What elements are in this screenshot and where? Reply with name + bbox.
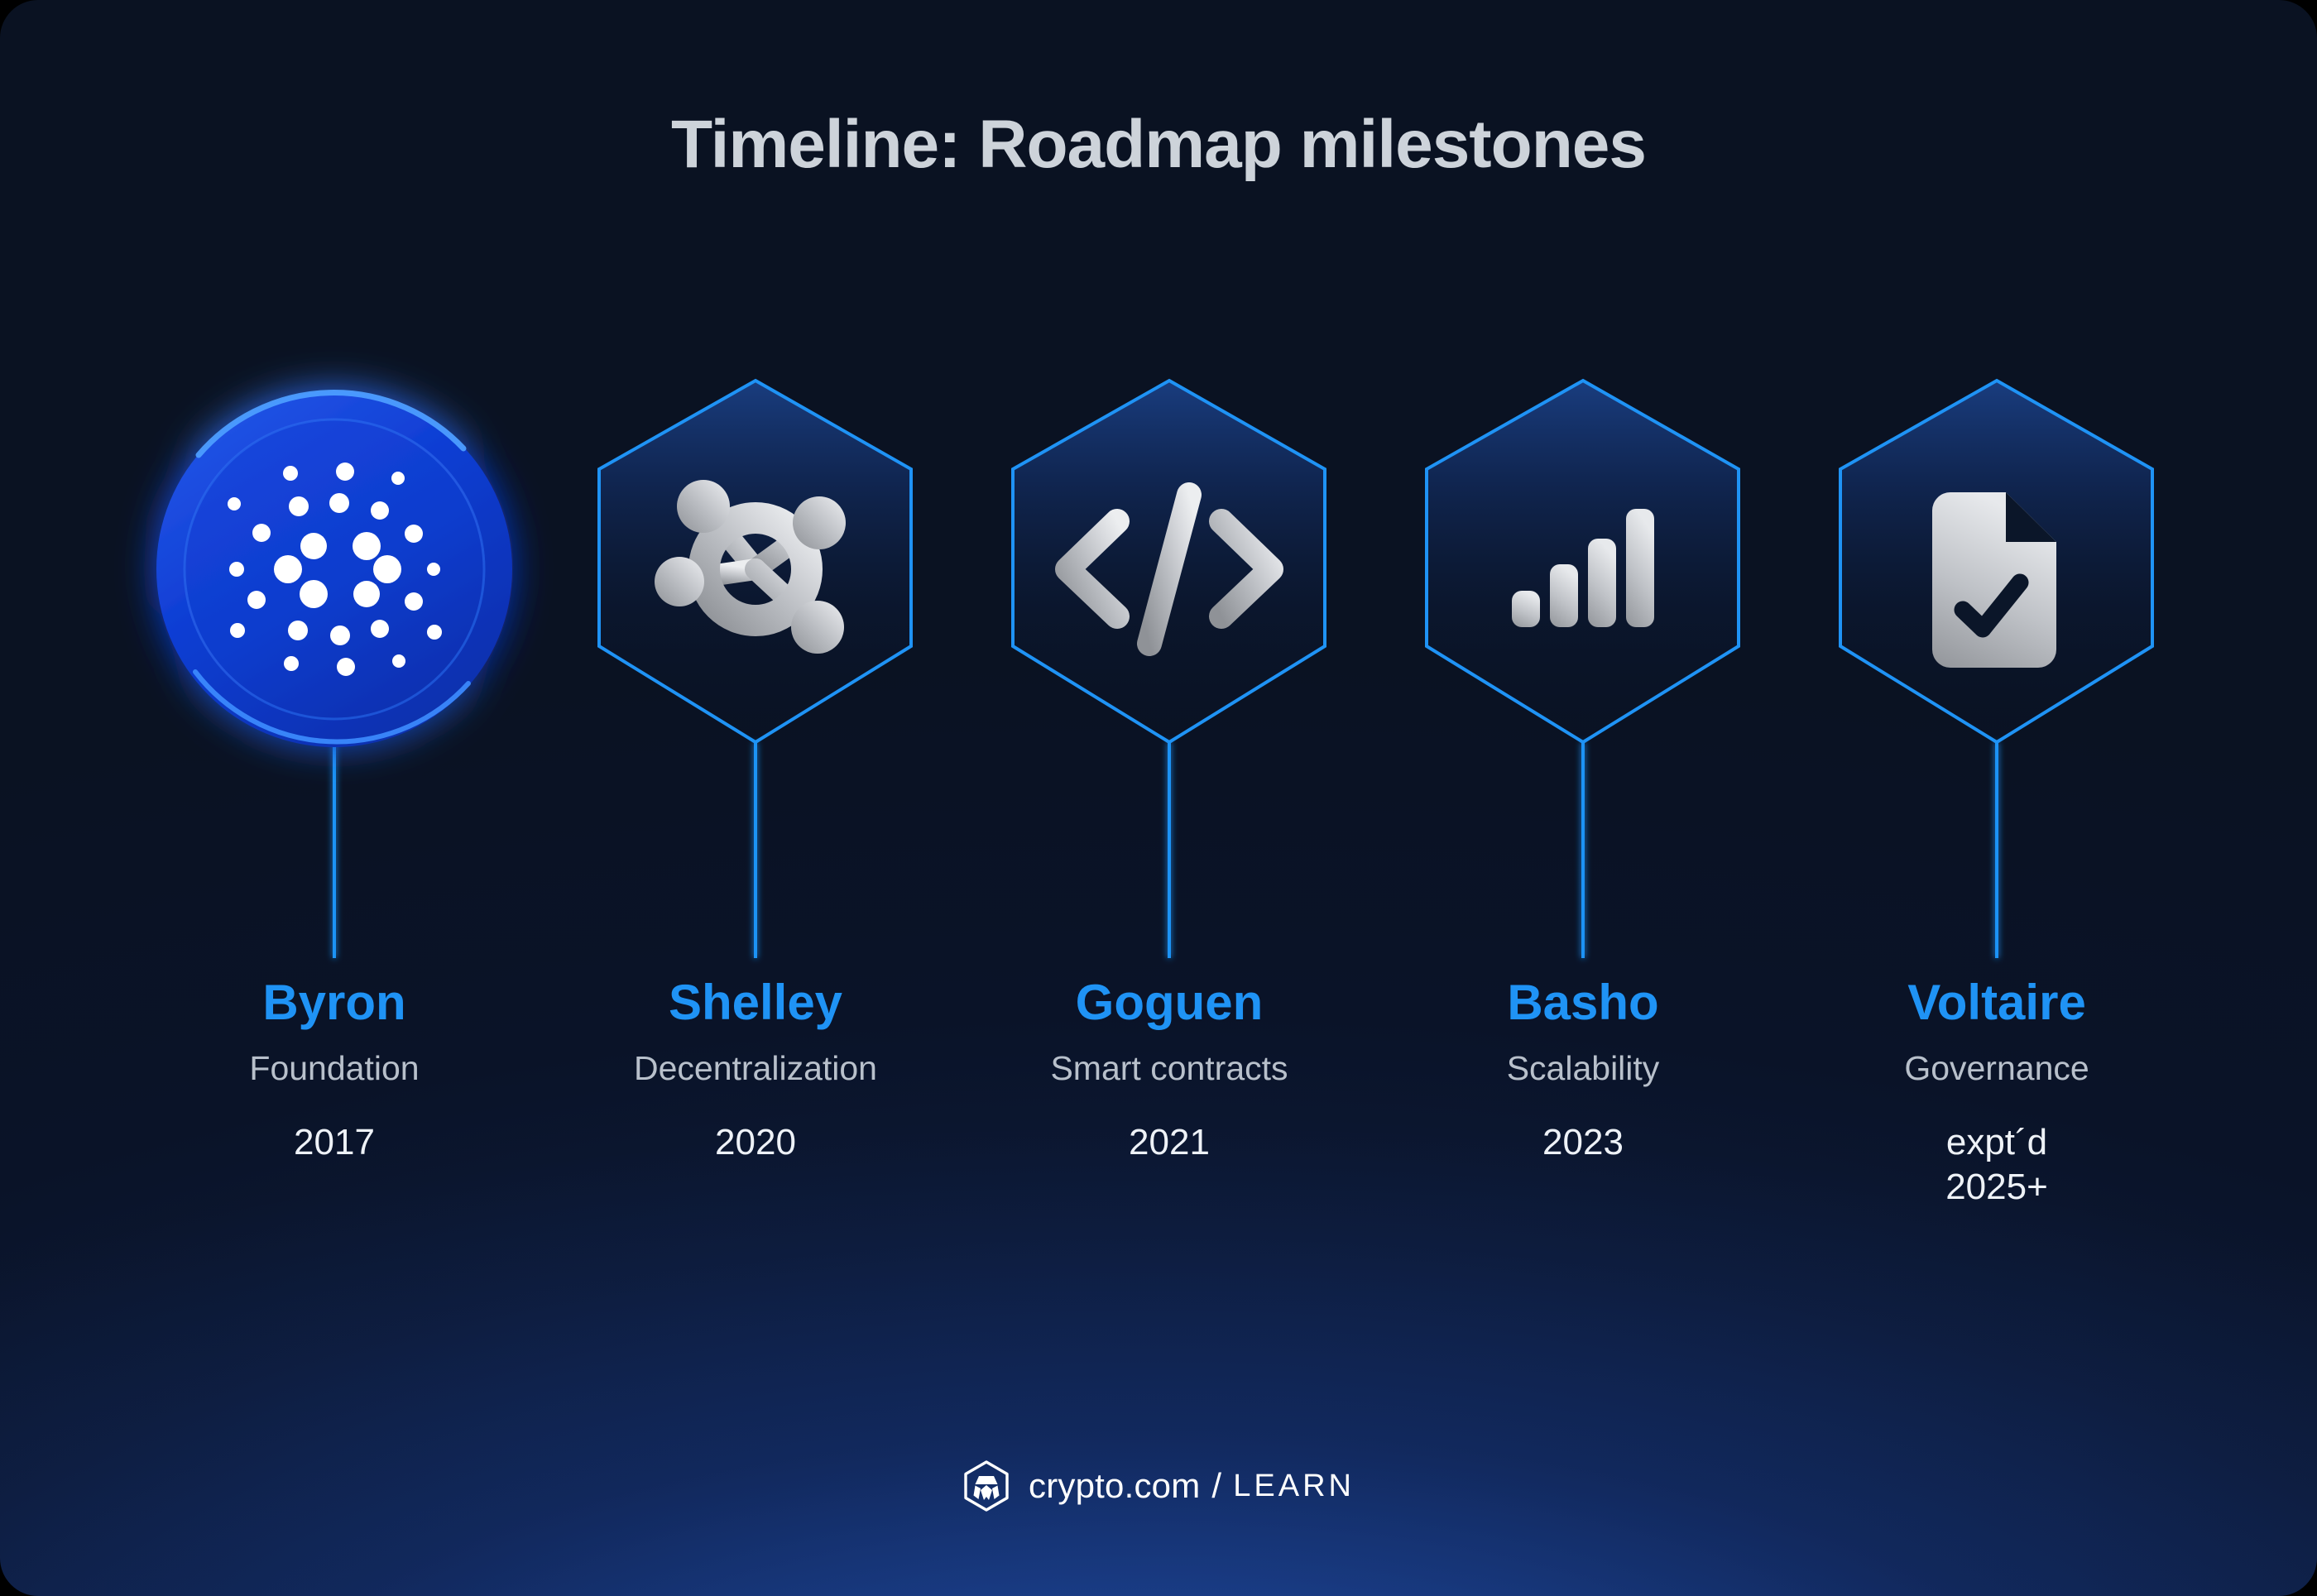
label-voltaire[interactable]: Voltaire Governance expt´d 2025+ — [1782, 976, 2212, 1209]
milestone-subtitle: Decentralization — [540, 1050, 971, 1087]
milestone-labels: Byron Foundation 2017 Shelley Decentrali… — [0, 976, 2317, 1274]
label-basho[interactable]: Basho Scalability 2023 — [1368, 976, 1798, 1165]
infographic-canvas: Timeline: Roadmap milestones — [0, 0, 2317, 1596]
label-shelley[interactable]: Shelley Decentralization 2020 — [540, 976, 971, 1165]
milestone-name: Byron — [119, 976, 549, 1028]
milestone-subtitle: Foundation — [119, 1050, 549, 1087]
node-shelley[interactable] — [599, 381, 911, 742]
label-goguen[interactable]: Goguen Smart contracts 2021 — [954, 976, 1384, 1165]
milestone-name: Basho — [1368, 976, 1798, 1028]
milestone-name: Voltaire — [1782, 976, 2212, 1028]
timeline-diagram — [0, 0, 2317, 1596]
brand-separator: / — [1211, 1466, 1221, 1506]
milestone-year: 2017 — [119, 1120, 549, 1165]
brand-section: LEARN — [1233, 1469, 1355, 1504]
page-title: Timeline: Roadmap milestones — [0, 106, 2317, 184]
milestone-year: 2021 — [954, 1120, 1384, 1165]
milestone-subtitle: Smart contracts — [954, 1050, 1384, 1087]
milestone-year: 2020 — [540, 1120, 971, 1165]
stem-lines — [334, 728, 1997, 958]
crypto-com-logo-icon — [962, 1459, 1010, 1512]
node-byron[interactable] — [156, 391, 512, 747]
milestone-year: expt´d 2025+ — [1782, 1120, 2212, 1209]
hexagon-basho — [1427, 381, 1739, 742]
milestone-name: Shelley — [540, 976, 971, 1028]
node-goguen[interactable] — [1013, 381, 1325, 742]
node-basho[interactable] — [1427, 381, 1739, 742]
node-voltaire[interactable] — [1840, 381, 2152, 742]
milestone-subtitle: Scalability — [1368, 1050, 1798, 1087]
milestone-name: Goguen — [954, 976, 1384, 1028]
footer-branding[interactable]: crypto.com / LEARN — [0, 1446, 2317, 1526]
milestone-year: 2023 — [1368, 1120, 1798, 1165]
milestone-subtitle: Governance — [1782, 1050, 2212, 1087]
brand-name: crypto.com — [1029, 1466, 1200, 1506]
brand-lockup: crypto.com / LEARN — [1029, 1466, 1355, 1506]
label-byron[interactable]: Byron Foundation 2017 — [119, 976, 549, 1165]
